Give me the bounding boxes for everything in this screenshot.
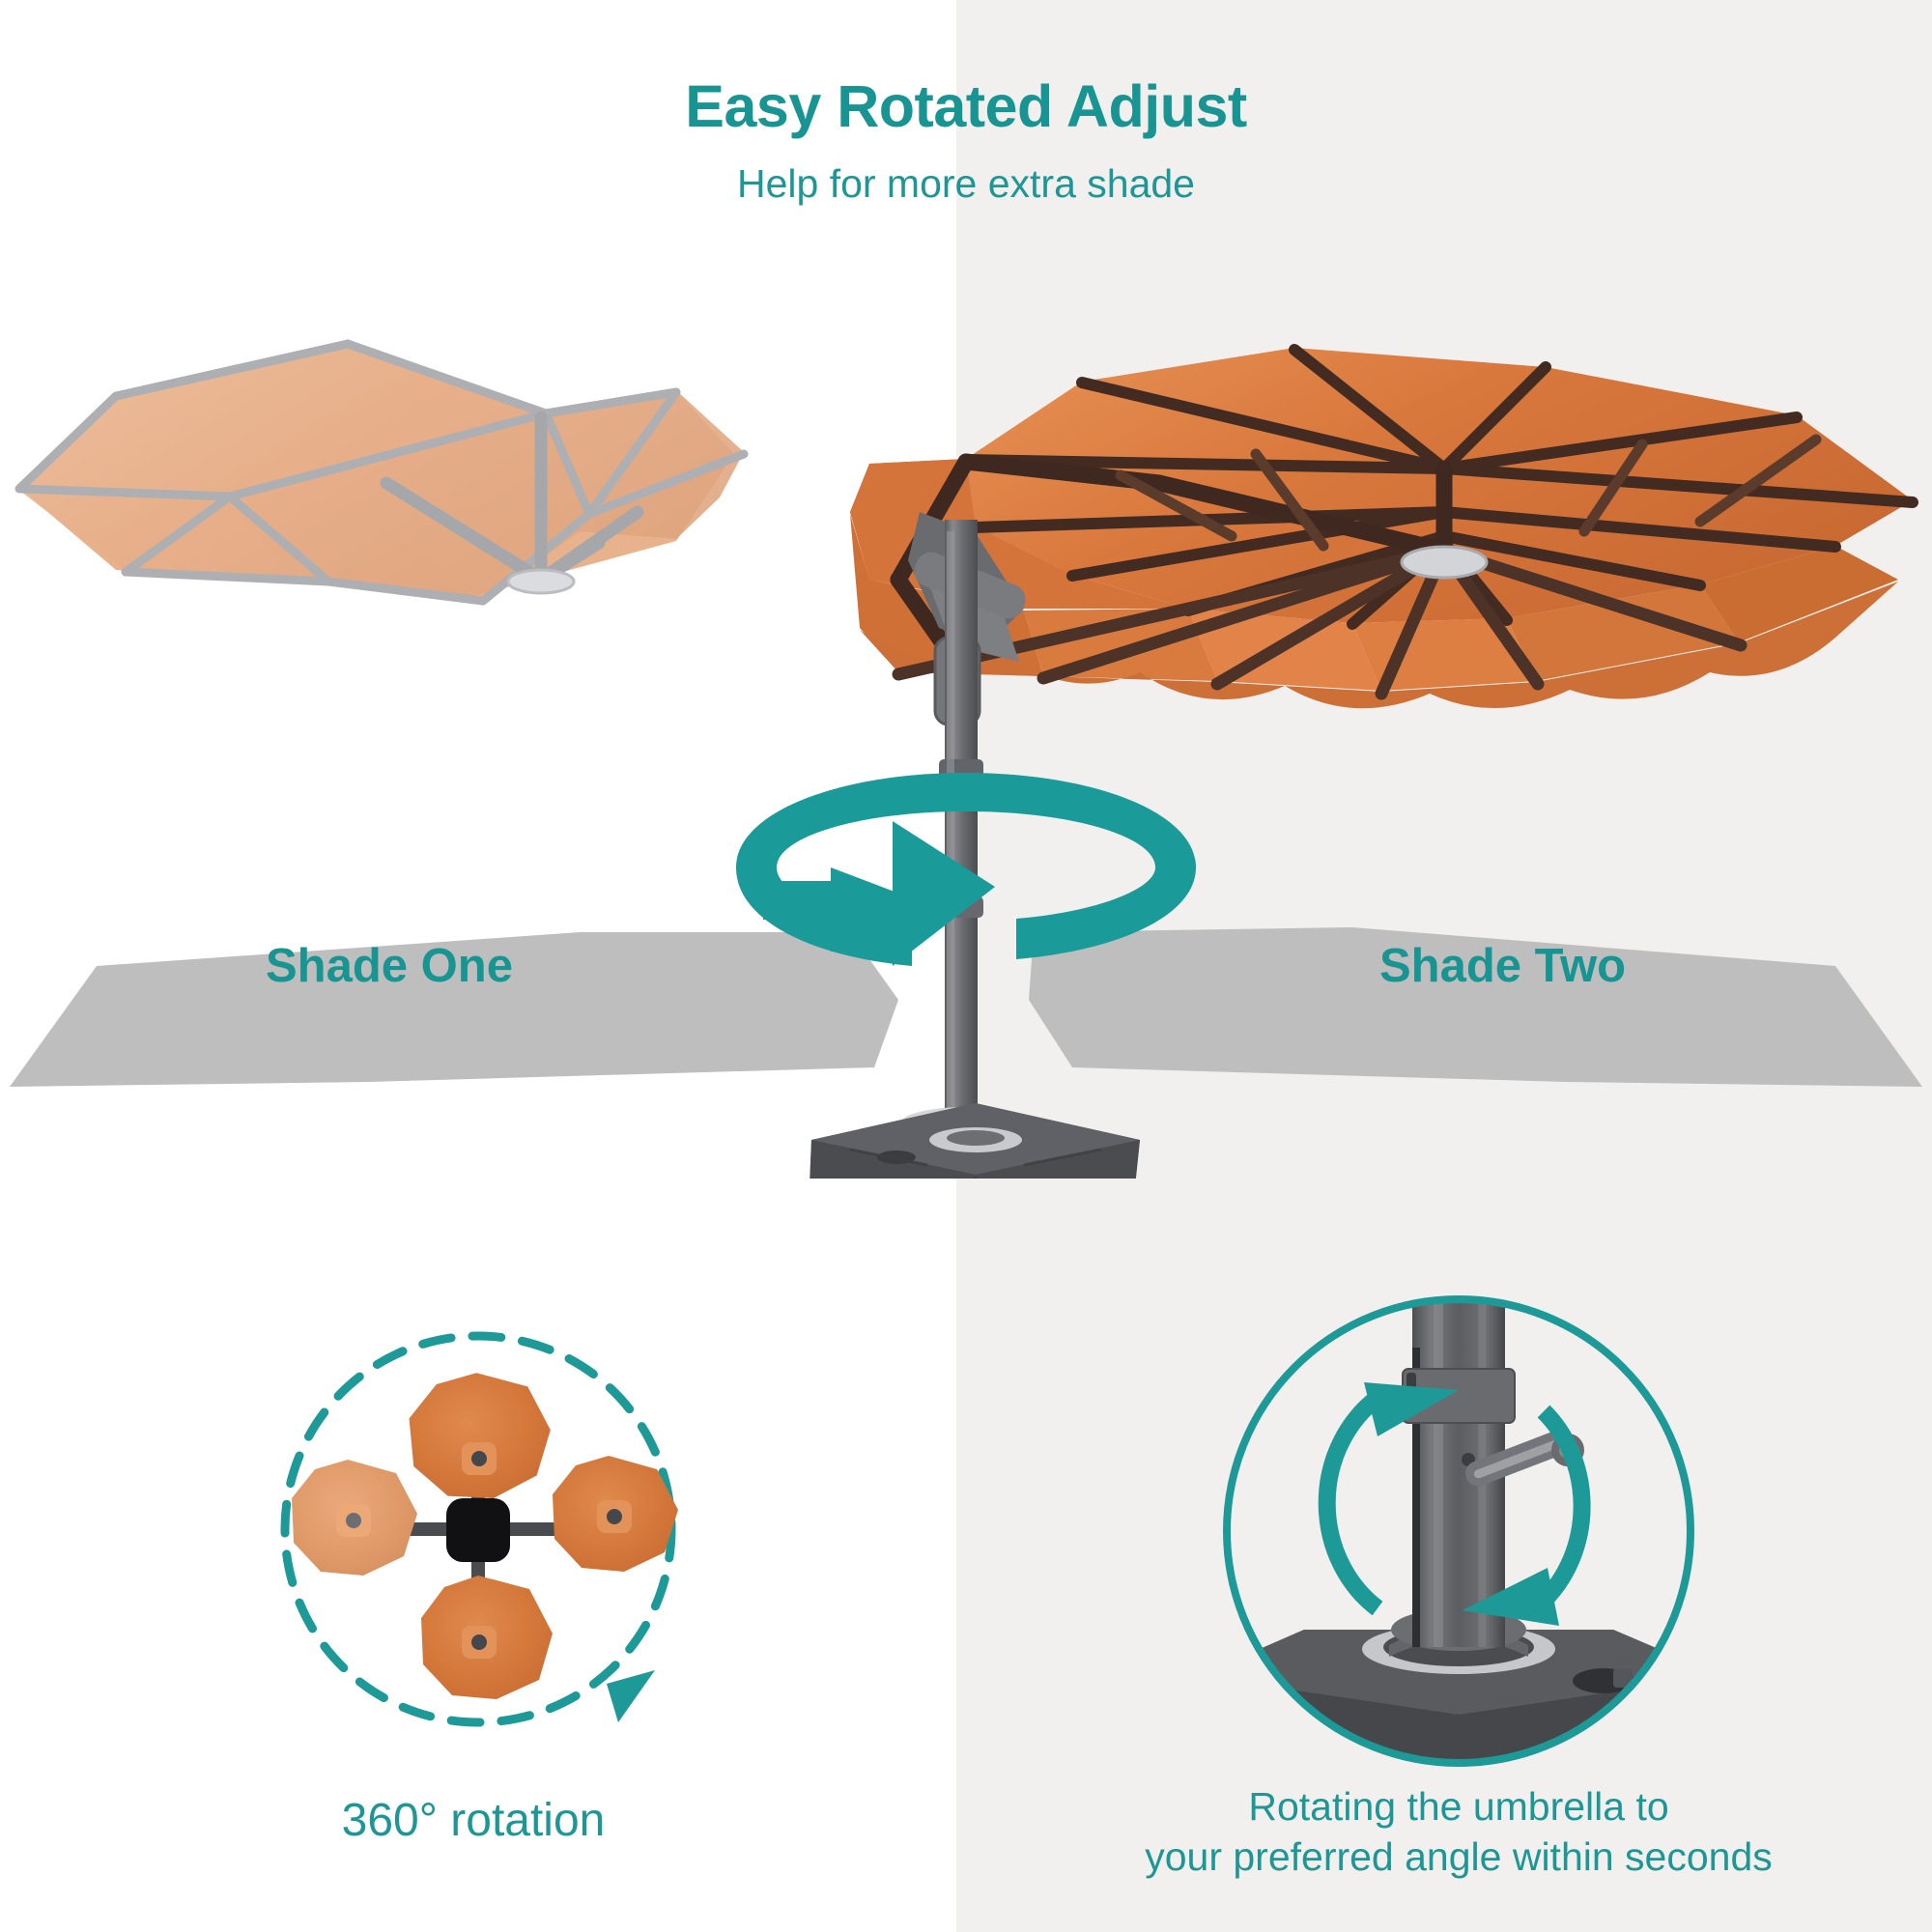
clockwise-arrow (607, 1670, 655, 1722)
header: Easy Rotated Adjust Help for more extra … (0, 75, 1932, 206)
right-caption-line2: your preferred angle within seconds (1145, 1834, 1773, 1879)
closeup-contents (1188, 1290, 1729, 1773)
top-view-rotation-diagram (222, 1309, 734, 1753)
right-panel-caption: Rotating the umbrella to your preferred … (1092, 1782, 1826, 1882)
page-title: Easy Rotated Adjust (0, 75, 1932, 137)
shade-two-label: Shade Two (1379, 939, 1626, 993)
umbrella-base (810, 1103, 1140, 1179)
top-view-umbrella-north (410, 1373, 551, 1498)
top-view-umbrella-west (292, 1460, 417, 1576)
pole-base-closeup-diagram (1188, 1290, 1729, 1773)
umbrella-pole (939, 520, 983, 1138)
shade-one-label: Shade One (266, 939, 513, 993)
right-caption-line1: Rotating the umbrella to (1248, 1784, 1668, 1829)
top-view-umbrella-south (421, 1576, 553, 1699)
page-subtitle: Help for more extra shade (0, 162, 1932, 206)
left-panel-caption: 360° rotation (174, 1792, 773, 1850)
hero-illustration (0, 290, 1932, 1179)
infographic-page: Easy Rotated Adjust Help for more extra … (0, 0, 1932, 1932)
umbrella-canopy-ghost (17, 342, 744, 601)
center-base-block (446, 1498, 510, 1562)
